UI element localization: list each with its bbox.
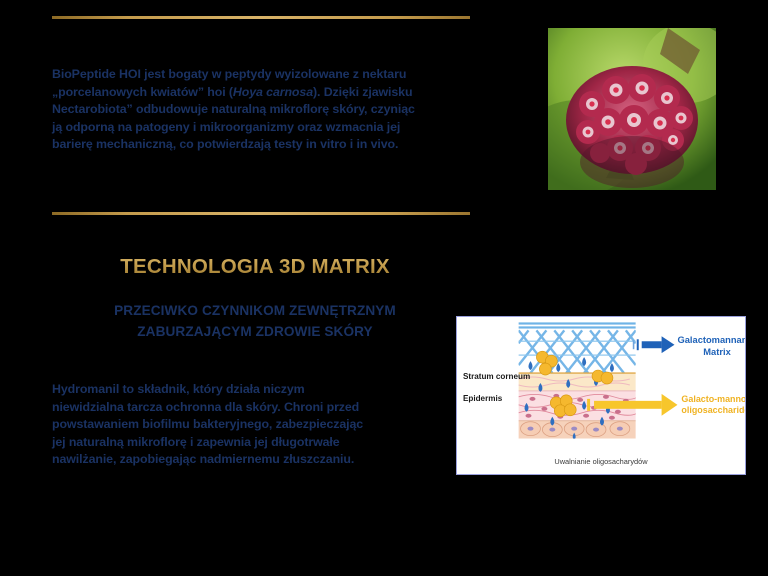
para1-line5: barierę mechaniczną, co potwierdzają tes…: [52, 137, 398, 151]
para1-line2-a: „porcelanowych kwiatów” hoi (: [52, 85, 233, 99]
para2-line4: jej naturalną mikroflorę i zapewnia jej …: [52, 435, 340, 449]
para2-line3: powstawaniem biofilmu bakteryjnego, zabe…: [52, 417, 363, 431]
label-epidermis: Epidermis: [463, 394, 503, 403]
slide-root: BioPeptide HOI jest bogaty w peptydy wyi…: [0, 0, 768, 576]
brand-hydromanil: Hydromanil: [52, 382, 119, 396]
para1-line3: Nectarobiota” odbudowuje naturalną mikro…: [52, 102, 415, 116]
para1-line4: ją odporną na patogeny i mikroorganizmy …: [52, 120, 400, 134]
brand-biopeptide: BioPeptide HOI: [52, 67, 141, 81]
label-galactomannan-line2: Matrix: [703, 347, 731, 357]
para2-line5: nawilżanie, zapobiegając nadmiernemu złu…: [52, 452, 354, 466]
gold-divider-top: [52, 16, 470, 19]
para2-line1-rest: to składnik, który działa niczym: [119, 382, 304, 396]
label-stratum-corneum: Stratum corneum: [463, 372, 530, 381]
paragraph-hydromanil: Hydromanil to składnik, który działa nic…: [52, 381, 444, 469]
galactomannan-arrow: [633, 336, 675, 353]
label-galactomannan-line1: Galactomannan: [677, 335, 745, 345]
technology-subtitle-line2: ZABURZAJĄCYM ZDROWIE SKÓRY: [137, 324, 372, 339]
para1-line2-b: ). Dzięki zjawisku: [313, 85, 412, 99]
para1-line1-rest: jest bogaty w peptydy wyizolowane z nekt…: [141, 67, 407, 81]
label-oligo-line1: Galacto-manno-: [681, 394, 745, 404]
hoya-carnosa-photo: [548, 28, 716, 190]
skin-matrix-diagram: Galactomannan Matrix Galacto-manno- olig…: [457, 317, 745, 443]
diagram-caption: Uwalnianie oligosacharydów: [457, 457, 745, 466]
species-name: Hoya carnosa: [233, 85, 313, 99]
para2-line2: niewidzialna tarcza ochronna dla skóry. …: [52, 400, 359, 414]
technology-subtitle: PRZECIWKO CZYNNIKOM ZEWNĘTRZNYM ZABURZAJ…: [0, 300, 510, 342]
skin-matrix-diagram-card: Galactomannan Matrix Galacto-manno- olig…: [456, 316, 746, 475]
label-oligo-line2: oligosaccharides: [681, 405, 745, 415]
technology-subtitle-line1: PRZECIWKO CZYNNIKOM ZEWNĘTRZNYM: [114, 303, 396, 318]
page-title-technology: TECHNOLOGIA 3D MATRIX: [0, 255, 510, 279]
paragraph-biopeptide: BioPeptide HOI jest bogaty w peptydy wyi…: [52, 66, 484, 154]
gold-divider-middle: [52, 212, 470, 215]
